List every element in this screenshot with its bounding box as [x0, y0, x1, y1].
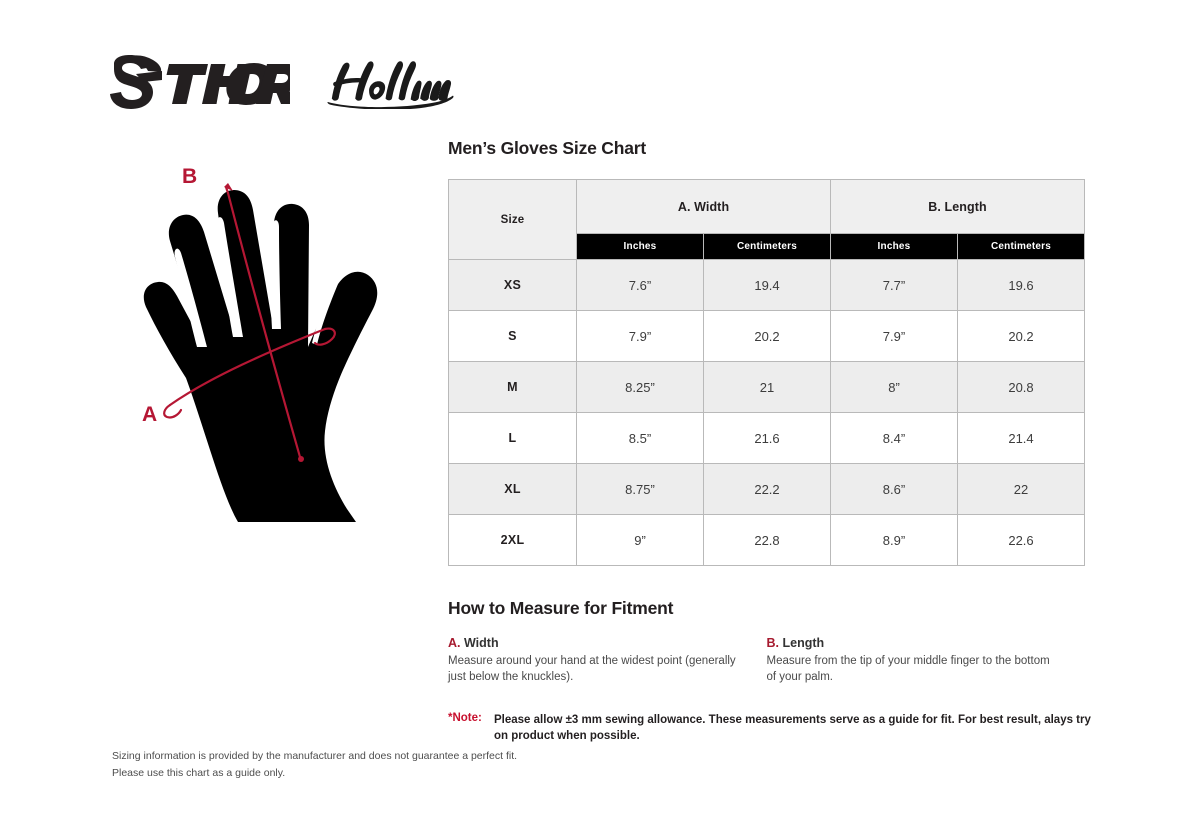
- measure-length-heading: B. Length: [767, 636, 1058, 650]
- cell-size: S: [449, 311, 577, 362]
- header-length-centimeters: Centimeters: [958, 234, 1085, 260]
- cell-length-centimeters: 20.2: [958, 311, 1085, 362]
- disclaimer-line-1: Sizing information is provided by the ma…: [112, 748, 517, 765]
- measure-width-heading: A. Width: [448, 636, 739, 650]
- measure-width-name: Width: [464, 636, 499, 650]
- table-row: XS 7.6” 19.4 7.7” 19.6: [449, 260, 1085, 311]
- note-row: *Note: Please allow ±3 mm sewing allowan…: [448, 712, 1093, 745]
- cell-length-centimeters: 22.6: [958, 515, 1085, 566]
- table-head-row-groups: Size A. Width B. Length: [449, 180, 1085, 234]
- measure-length-letter: B.: [767, 636, 780, 650]
- measure-width-letter: A.: [448, 636, 461, 650]
- disclaimer: Sizing information is provided by the ma…: [112, 748, 517, 782]
- how-to-measure-section: How to Measure for Fitment A. Width Meas…: [448, 598, 1088, 686]
- note-text: Please allow ±3 mm sewing allowance. The…: [494, 712, 1093, 745]
- cell-width-inches: 8.25”: [577, 362, 704, 413]
- measure-width-description: Measure around your hand at the widest p…: [448, 653, 739, 686]
- header-length-inches: Inches: [831, 234, 958, 260]
- cell-size: XL: [449, 464, 577, 515]
- cell-width-centimeters: 22.8: [704, 515, 831, 566]
- header-group-width: A. Width: [577, 180, 831, 234]
- cell-length-centimeters: 19.6: [958, 260, 1085, 311]
- cell-width-inches: 9”: [577, 515, 704, 566]
- table-row: L 8.5” 21.6 8.4” 21.4: [449, 413, 1085, 464]
- measure-length-description: Measure from the tip of your middle fing…: [767, 653, 1058, 686]
- table-row: XL 8.75” 22.2 8.6” 22: [449, 464, 1085, 515]
- cell-length-inches: 7.9”: [831, 311, 958, 362]
- measure-length-name: Length: [782, 636, 824, 650]
- disclaimer-line-2: Please use this chart as a guide only.: [112, 765, 517, 782]
- header-size: Size: [449, 180, 577, 260]
- cell-width-centimeters: 19.4: [704, 260, 831, 311]
- measure-item-width: A. Width Measure around your hand at the…: [448, 636, 767, 686]
- brand-logo-bar: [110, 52, 454, 114]
- page-title: Men’s Gloves Size Chart: [448, 138, 1088, 159]
- table-row: M 8.25” 21 8” 20.8: [449, 362, 1085, 413]
- note-label: *Note:: [448, 712, 494, 745]
- cell-width-centimeters: 20.2: [704, 311, 831, 362]
- cell-size: 2XL: [449, 515, 577, 566]
- cell-size: M: [449, 362, 577, 413]
- thor-logo: [110, 54, 290, 112]
- cell-width-inches: 8.5”: [577, 413, 704, 464]
- cell-width-inches: 7.6”: [577, 260, 704, 311]
- measure-columns: A. Width Measure around your hand at the…: [448, 636, 1085, 686]
- table-body: XS 7.6” 19.4 7.7” 19.6 S 7.9” 20.2 7.9” …: [449, 260, 1085, 566]
- hand-measurement-diagram: A B: [120, 165, 430, 535]
- cell-width-inches: 8.75”: [577, 464, 704, 515]
- cell-width-centimeters: 21.6: [704, 413, 831, 464]
- header-width-centimeters: Centimeters: [704, 234, 831, 260]
- chart-content: Men’s Gloves Size Chart Size A. Width B.…: [448, 138, 1088, 745]
- header-group-length: B. Length: [831, 180, 1085, 234]
- cell-size: L: [449, 413, 577, 464]
- cell-width-centimeters: 22.2: [704, 464, 831, 515]
- header-width-inches: Inches: [577, 234, 704, 260]
- hallman-logo: [324, 57, 454, 109]
- cell-size: XS: [449, 260, 577, 311]
- measure-item-length: B. Length Measure from the tip of your m…: [767, 636, 1086, 686]
- cell-length-centimeters: 22: [958, 464, 1085, 515]
- cell-width-inches: 7.9”: [577, 311, 704, 362]
- table-head: Size A. Width B. Length Inches Centimete…: [449, 180, 1085, 260]
- cell-width-centimeters: 21: [704, 362, 831, 413]
- table-row: S 7.9” 20.2 7.9” 20.2: [449, 311, 1085, 362]
- cell-length-centimeters: 20.8: [958, 362, 1085, 413]
- cell-length-centimeters: 21.4: [958, 413, 1085, 464]
- size-chart-table: Size A. Width B. Length Inches Centimete…: [448, 179, 1085, 566]
- cell-length-inches: 8.9”: [831, 515, 958, 566]
- cell-length-inches: 8.6”: [831, 464, 958, 515]
- table-row: 2XL 9” 22.8 8.9” 22.6: [449, 515, 1085, 566]
- cell-length-inches: 8.4”: [831, 413, 958, 464]
- label-b: B: [182, 165, 197, 188]
- cell-length-inches: 8”: [831, 362, 958, 413]
- how-to-title: How to Measure for Fitment: [448, 598, 1088, 619]
- label-a: A: [142, 403, 157, 426]
- cell-length-inches: 7.7”: [831, 260, 958, 311]
